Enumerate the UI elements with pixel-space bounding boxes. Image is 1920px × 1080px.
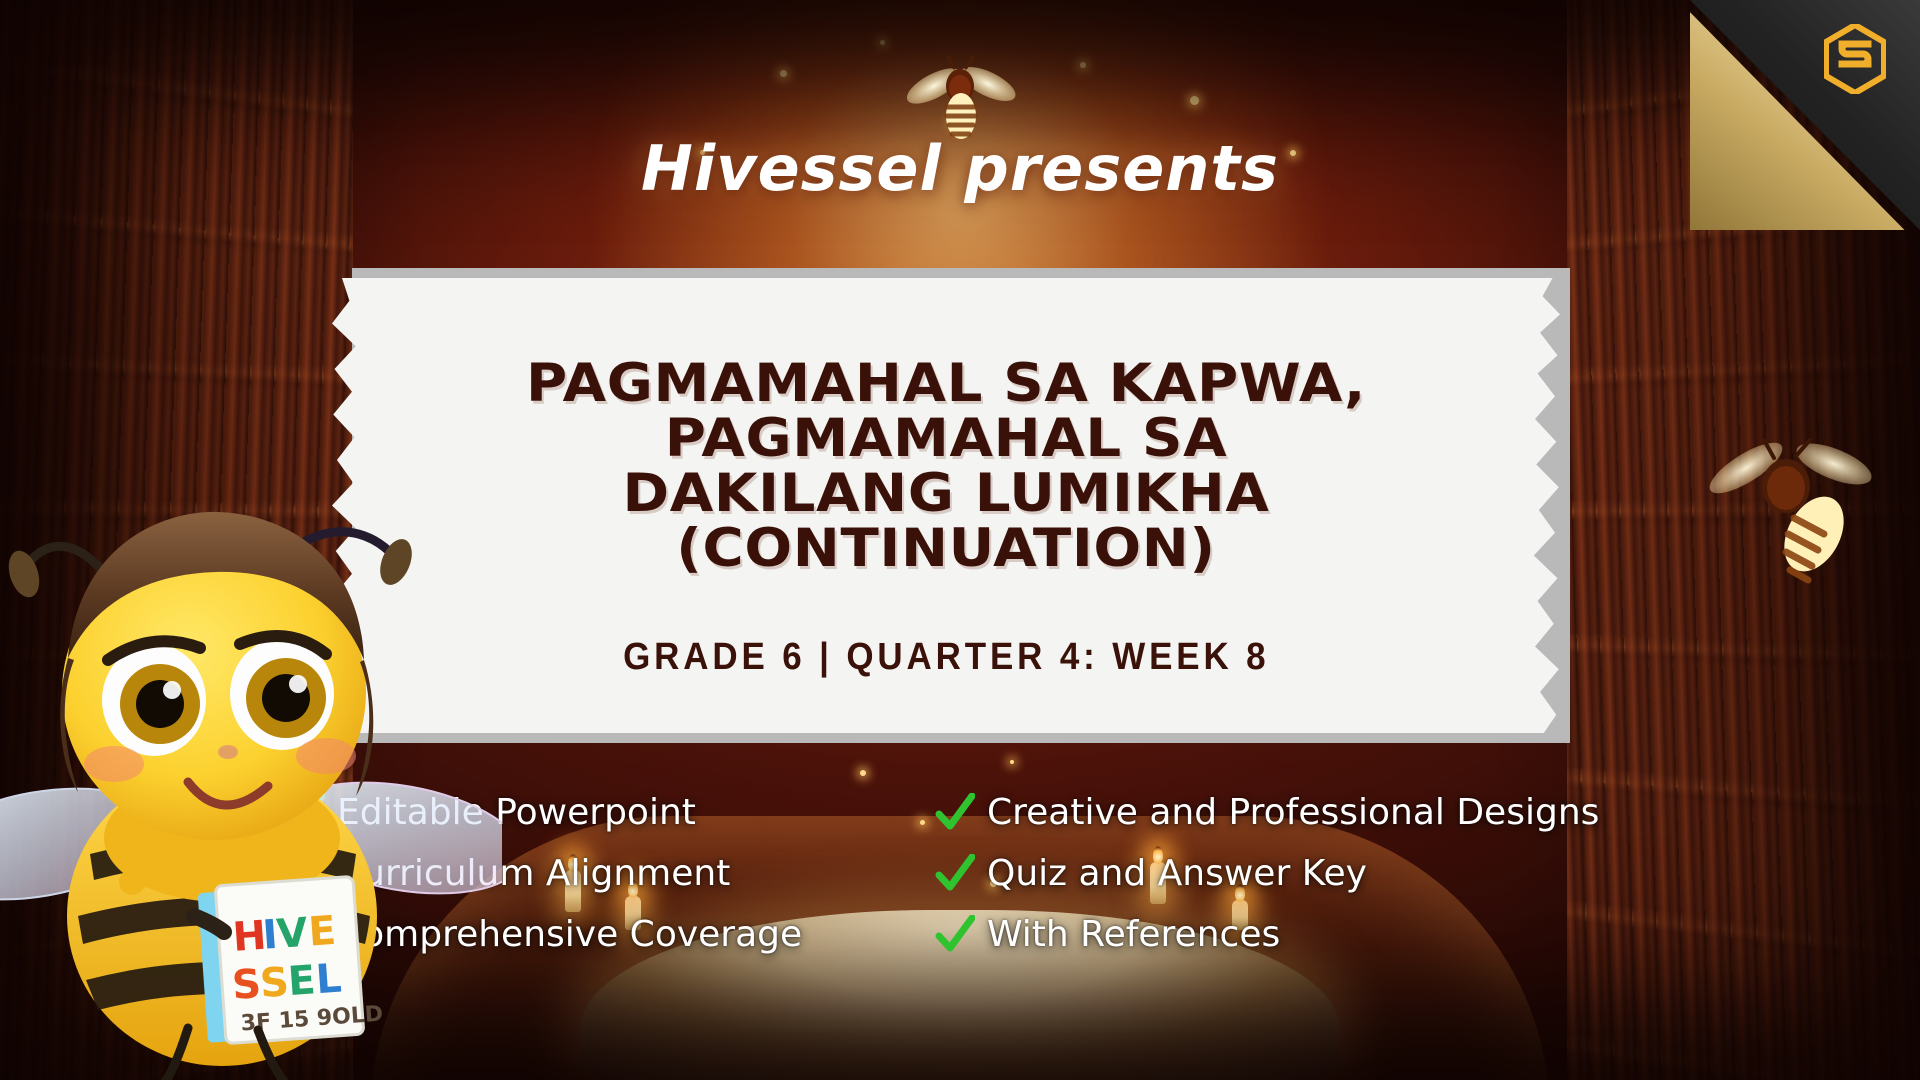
list-item: Creative and Professional Designs — [935, 792, 1635, 833]
list-item: With References — [935, 914, 1635, 955]
title-panel-content: PAGMAMAHAL SA KAPWA, PAGMAMAHAL SA DAKIL… — [322, 278, 1570, 733]
svg-text:S: S — [259, 959, 291, 1007]
title-line-2: PAGMAMAHAL SA — [416, 411, 1476, 466]
bee-mascot-with-book-icon: H I V E S S E L 3F 15 9OLD — [0, 446, 502, 1080]
title-line-3: DAKILANG LUMIKHA — [416, 466, 1476, 521]
svg-text:V: V — [275, 910, 309, 958]
svg-text:S: S — [231, 961, 263, 1009]
feature-column-right: Creative and Professional Designs Quiz a… — [935, 792, 1635, 955]
slide-canvas: Hivessel presents PAGMAMAHAL SA KAPWA, P… — [0, 0, 1920, 1080]
title-line-1: PAGMAMAHAL SA KAPWA, — [416, 356, 1476, 411]
feature-label: Quiz and Answer Key — [987, 853, 1367, 894]
green-check-icon — [935, 854, 975, 894]
svg-text:E: E — [286, 957, 316, 1005]
page-title: PAGMAMAHAL SA KAPWA, PAGMAMAHAL SA DAKIL… — [416, 356, 1476, 576]
list-item: Quiz and Answer Key — [935, 853, 1635, 894]
feature-label: With References — [987, 914, 1280, 955]
grade-quarter-week-subtitle: GRADE 6 | QUARTER 4: WEEK 8 — [623, 636, 1269, 679]
green-check-icon — [935, 915, 975, 955]
flying-bee-icon — [1702, 430, 1882, 600]
title-line-4: (CONTINUATION) — [416, 521, 1476, 576]
svg-text:L: L — [314, 956, 343, 1004]
presents-text: Hivessel presents — [641, 132, 1279, 205]
feature-label: Creative and Professional Designs — [987, 792, 1599, 833]
svg-text:E: E — [307, 908, 337, 956]
presents-heading: Hivessel presents — [0, 132, 1920, 205]
green-check-icon — [935, 793, 975, 833]
hexagon-hive-logo-icon[interactable] — [1824, 24, 1886, 94]
